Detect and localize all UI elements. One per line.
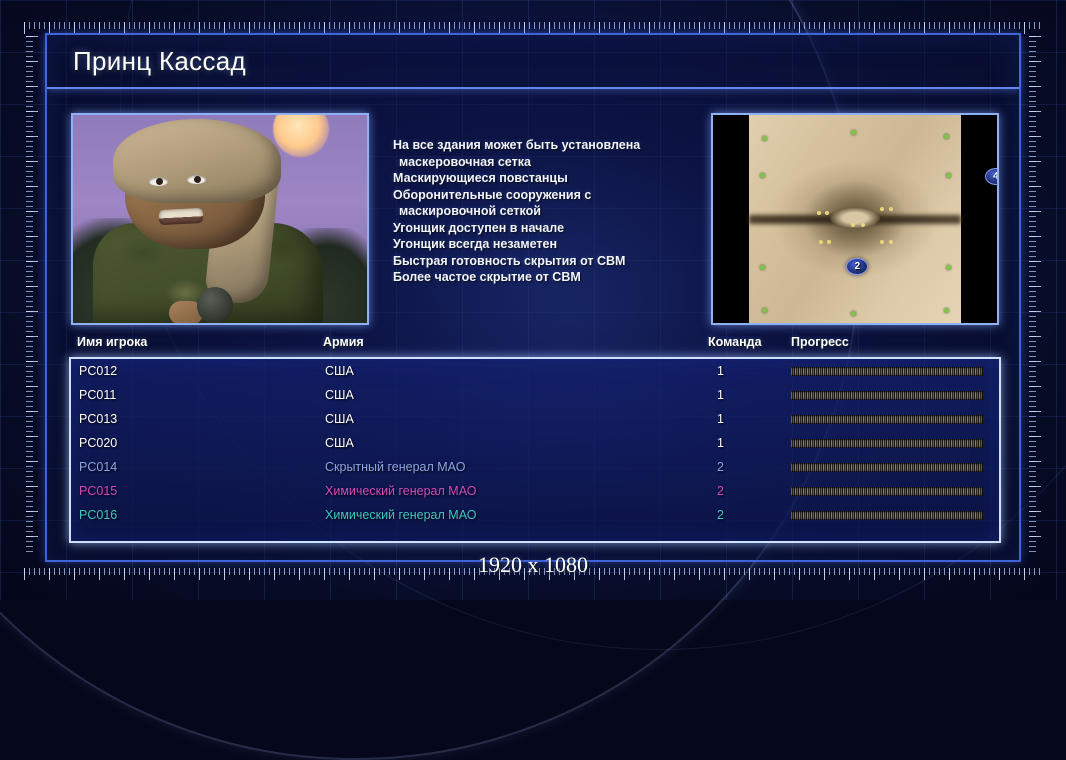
table-row[interactable]: PC012США1 xyxy=(71,359,999,383)
ability-line: Оборонительные сооружения с xyxy=(393,187,703,204)
map-tree-dot xyxy=(946,173,951,178)
column-header-progress: Прогресс xyxy=(791,335,849,349)
table-row[interactable]: PC015Химический генерал МАО2 xyxy=(71,479,999,503)
player-army: США xyxy=(325,436,354,450)
ability-line: Маскирующиеся повстанцы xyxy=(393,170,703,187)
player-team: 2 xyxy=(717,484,724,498)
player-progress-bar xyxy=(791,391,983,400)
ability-line: маскеровочная сетка xyxy=(393,154,703,171)
player-progress-bar xyxy=(791,439,983,448)
player-team: 2 xyxy=(717,460,724,474)
player-table-header: Имя игрока Армия Команда Прогресс xyxy=(71,335,999,357)
map-tree-dot xyxy=(851,130,856,135)
map-start-position-marker[interactable]: 4 xyxy=(985,168,999,185)
map-resource-dot xyxy=(880,240,884,244)
map-tree-dot xyxy=(851,311,856,316)
map-resource-dot xyxy=(851,223,855,227)
general-portrait xyxy=(71,113,369,325)
player-name: PC012 xyxy=(79,364,117,378)
column-header-team: Команда xyxy=(708,335,762,349)
map-resource-dot xyxy=(827,240,831,244)
player-progress-bar xyxy=(791,511,983,520)
player-team: 2 xyxy=(717,508,724,522)
ability-line: На все здания может быть установлена xyxy=(393,137,703,154)
portrait-mouth xyxy=(159,208,204,225)
player-progress-bar xyxy=(791,487,983,496)
player-name: PC011 xyxy=(79,388,116,402)
table-row[interactable]: PC014Скрытный генерал МАО2 xyxy=(71,455,999,479)
portrait-canteen xyxy=(197,287,233,323)
player-progress-bar xyxy=(791,367,983,376)
player-list-panel[interactable]: PC012США1PC011США1PC013США1PC020США1PC01… xyxy=(69,357,1001,543)
map-resource-dot xyxy=(880,207,884,211)
player-name: PC014 xyxy=(79,460,117,474)
player-army: Скрытный генерал МАО xyxy=(325,460,465,474)
ability-line: Угонщик доступен в начале xyxy=(393,220,703,237)
map-tree-dot xyxy=(762,308,767,313)
general-abilities-list: На все здания может быть установлена мас… xyxy=(369,113,711,325)
ability-line: Более частое скрытие от СВМ xyxy=(393,269,703,286)
player-name: PC020 xyxy=(79,436,117,450)
portrait-headwrap xyxy=(113,119,281,203)
map-tree-dot xyxy=(760,173,765,178)
player-progress-bar xyxy=(791,415,983,424)
map-tree-dot xyxy=(762,136,767,141)
title-bar: Принц Кассад xyxy=(47,35,1019,89)
map-resource-dot xyxy=(819,240,823,244)
player-army: Химический генерал МАО xyxy=(325,508,476,522)
map-tree-dot xyxy=(944,308,949,313)
map-terrain xyxy=(749,115,961,323)
portrait-eye-right xyxy=(187,175,206,184)
player-team: 1 xyxy=(717,436,724,450)
player-progress-bar xyxy=(791,463,983,472)
general-info-row: На все здания может быть установлена мас… xyxy=(71,113,999,325)
map-tree-dot xyxy=(944,134,949,139)
column-header-army: Армия xyxy=(323,335,364,349)
player-name: PC013 xyxy=(79,412,117,426)
map-preview[interactable]: 4321567 xyxy=(711,113,999,325)
player-team: 1 xyxy=(717,412,724,426)
portrait-eye-left xyxy=(149,177,168,186)
table-row[interactable]: PC016Химический генерал МАО2 xyxy=(71,503,999,527)
main-frame: Принц Кассад На все здания может быть ус… xyxy=(45,33,1021,562)
column-header-name: Имя игрока xyxy=(77,335,147,349)
page-title: Принц Кассад xyxy=(73,46,246,77)
table-row[interactable]: PC020США1 xyxy=(71,431,999,455)
player-name: PC015 xyxy=(79,484,117,498)
player-team: 1 xyxy=(717,364,724,378)
map-resource-dot xyxy=(817,211,821,215)
player-team: 1 xyxy=(717,388,724,402)
player-army: США xyxy=(325,388,354,402)
map-resource-dot xyxy=(889,207,893,211)
ability-line: Угонщик всегда незаметен xyxy=(393,236,703,253)
map-tree-dot xyxy=(946,265,951,270)
player-army: США xyxy=(325,412,354,426)
table-row[interactable]: PC013США1 xyxy=(71,407,999,431)
player-name: PC016 xyxy=(79,508,117,522)
ability-line: маскировочной сеткой xyxy=(393,203,703,220)
player-army: США xyxy=(325,364,354,378)
map-center-feature xyxy=(830,207,881,230)
ability-line: Быстрая готовность скрытия от СВМ xyxy=(393,253,703,270)
player-army: Химический генерал МАО xyxy=(325,484,476,498)
resolution-label: 1920 x 1080 xyxy=(0,552,1066,578)
map-tree-dot xyxy=(760,265,765,270)
map-resource-dot xyxy=(889,240,893,244)
table-row[interactable]: PC011США1 xyxy=(71,383,999,407)
